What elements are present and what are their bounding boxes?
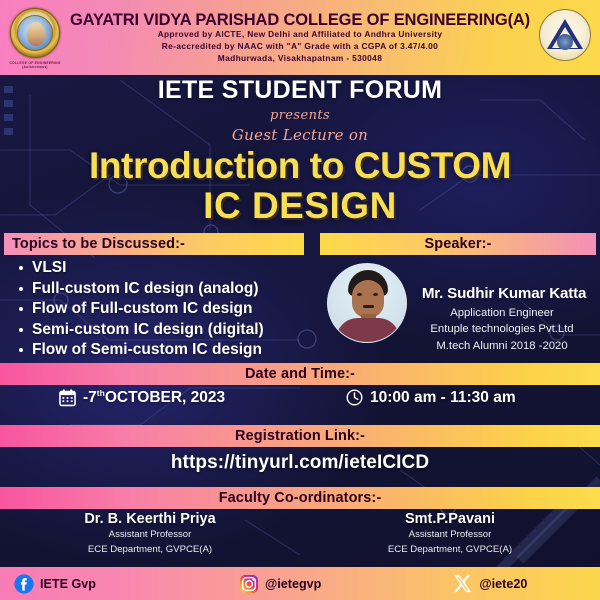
list-item: Flow of Full-custom IC design (16, 299, 316, 320)
topics-list: VLSI Full-custom IC design (analog) Flow… (16, 258, 316, 361)
registration-heading-bar: Registration Link:- (0, 425, 600, 447)
list-item: Full-custom IC design (analog) (16, 279, 316, 300)
coordinator-role: Assistant Professor (0, 529, 300, 542)
speaker-company: Entuple technologies Pvt.Ltd (404, 321, 600, 337)
registration-link[interactable]: https://tinyurl.com/ieteICICD (0, 452, 600, 474)
gvp-logo-caption: COLLEGE OF ENGINEERING (Autonomous) (4, 61, 66, 70)
list-item: Flow of Semi-custom IC design (16, 340, 316, 361)
instagram-handle: @ietegvp (265, 577, 321, 591)
calendar-icon (58, 388, 77, 407)
instagram-icon (239, 574, 259, 594)
page-title: Introduction to CUSTOM IC DESIGN (0, 146, 600, 226)
college-name: GAYATRI VIDYA PARISHAD COLLEGE OF ENGINE… (68, 12, 532, 29)
coordinator-name: Dr. B. Keerthi Priya (0, 511, 300, 527)
list-item: Semi-custom IC design (digital) (16, 320, 316, 341)
coordinator-department: ECE Department, GVPCE(A) (0, 544, 300, 557)
x-handle: @iete20 (479, 577, 527, 591)
facebook-link[interactable]: IETE Gvp (14, 574, 96, 594)
instagram-link[interactable]: @ietegvp (239, 574, 321, 594)
iete-triangle-emblem-logo (534, 7, 596, 69)
speaker-portrait-photo (327, 263, 407, 343)
presents-label: presents (0, 108, 600, 123)
date-text: -7thOCTOBER, 2023 (83, 388, 225, 407)
date-time-heading-bar: Date and Time:- (0, 363, 600, 385)
x-twitter-link[interactable]: @iete20 (452, 573, 527, 594)
date-time-row: -7thOCTOBER, 2023 10:00 am - 11:30 am (0, 388, 600, 420)
facebook-icon (14, 574, 34, 594)
event-poster: COLLEGE OF ENGINEERING (Autonomous) GAYA… (0, 0, 600, 600)
event-date: -7thOCTOBER, 2023 (58, 388, 225, 407)
faculty-heading-bar: Faculty Co-ordinators:- (0, 487, 600, 509)
speaker-designation: Application Engineer (404, 305, 600, 321)
gvp-college-seal-logo: COLLEGE OF ENGINEERING (Autonomous) (4, 7, 66, 69)
speaker-alumni: M.tech Alumni 2018 -2020 (404, 338, 600, 354)
x-twitter-icon (452, 573, 473, 594)
facebook-handle: IETE Gvp (40, 577, 96, 591)
faculty-coordinator-1: Dr. B. Keerthi Priya Assistant Professor… (0, 511, 300, 557)
coordinator-department: ECE Department, GVPCE(A) (300, 544, 600, 557)
main-title-line-1: Introduction to CUSTOM (89, 145, 511, 186)
social-footer: IETE Gvp @ietegvp @iete20 (0, 567, 600, 600)
header-text-block: GAYATRI VIDYA PARISHAD COLLEGE OF ENGINE… (66, 10, 534, 65)
faculty-coordinator-2: Smt.P.Pavani Assistant Professor ECE Dep… (300, 511, 600, 557)
event-time: 10:00 am - 11:30 am (345, 388, 516, 407)
college-header: COLLEGE OF ENGINEERING (Autonomous) GAYA… (0, 0, 600, 75)
accreditation-line-2: Re-accredited by NAAC with "A" Grade wit… (68, 41, 532, 53)
clock-icon (345, 388, 364, 407)
accreditation-line-1: Approved by AICTE, New Delhi and Affilia… (68, 29, 532, 41)
topics-heading-bar: Topics to be Discussed:- (4, 233, 304, 255)
forum-title: IETE STUDENT FORUM (0, 76, 600, 105)
guest-lecture-label: Guest Lecture on (0, 126, 600, 144)
speaker-heading-bar: Speaker:- (320, 233, 596, 255)
address-line: Madhurwada, Visakhapatnam - 530048 (68, 53, 532, 65)
coordinator-name: Smt.P.Pavani (300, 511, 600, 527)
time-text: 10:00 am - 11:30 am (370, 389, 516, 407)
coordinator-role: Assistant Professor (300, 529, 600, 542)
main-title-line-2: IC DESIGN (0, 186, 600, 226)
speaker-name: Mr. Sudhir Kumar Katta (408, 285, 600, 302)
speaker-details: Application Engineer Entuple technologie… (404, 305, 600, 354)
list-item: VLSI (16, 258, 316, 279)
